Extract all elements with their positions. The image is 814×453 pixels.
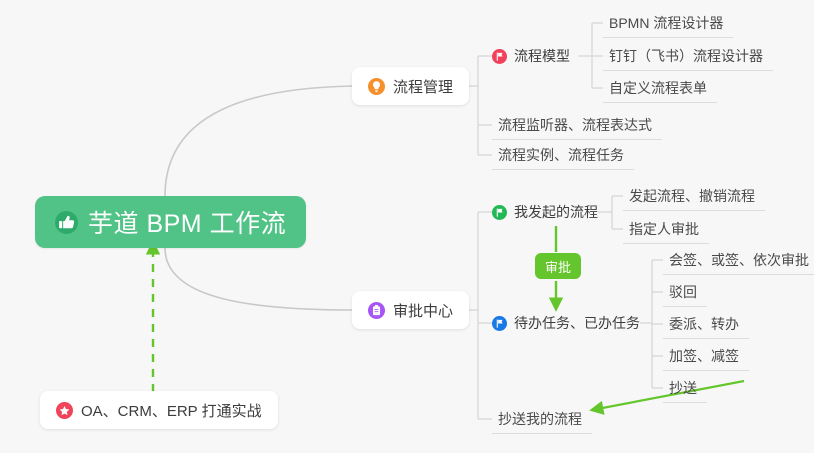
branch-label-process-model: 流程模型 <box>514 46 570 66</box>
integration-card-label: OA、CRM、ERP 打通实战 <box>81 400 262 421</box>
leaf-node-cc[interactable]: 抄送 <box>663 373 707 403</box>
connector-root-to-process-management <box>165 86 352 196</box>
flag-icon <box>492 49 507 64</box>
leaf-node-delegate-transfer[interactable]: 委派、转办 <box>663 309 749 339</box>
leaf-node-add-remove-sign[interactable]: 加签、减签 <box>663 341 749 371</box>
mindmap-canvas: 芋道 BPM 工作流 流程管理 流程模型 BPMN 流程设计器 钉钉（飞书）流程… <box>0 0 814 453</box>
root-node[interactable]: 芋道 BPM 工作流 <box>35 196 306 248</box>
branch-node-todo-done-tasks[interactable]: 待办任务、已办任务 <box>492 309 646 337</box>
leaf-label: 流程实例、流程任务 <box>498 145 624 165</box>
leaf-label: 流程监听器、流程表达式 <box>498 115 652 135</box>
leaf-node-countersign[interactable]: 会签、或签、依次审批 <box>663 245 814 275</box>
flag-icon <box>492 205 507 220</box>
leaf-node-custom-form[interactable]: 自定义流程表单 <box>603 73 717 103</box>
leaf-node-reject[interactable]: 驳回 <box>663 277 707 307</box>
leaf-label: 会签、或签、依次审批 <box>669 250 809 270</box>
leaf-label: 驳回 <box>669 282 697 302</box>
flag-icon <box>492 316 507 331</box>
branch-node-process-model[interactable]: 流程模型 <box>492 42 576 70</box>
branch-node-my-started-process[interactable]: 我发起的流程 <box>492 198 604 226</box>
leaf-node-start-cancel-process[interactable]: 发起流程、撤销流程 <box>623 181 765 211</box>
integration-card[interactable]: OA、CRM、ERP 打通实战 <box>40 391 278 429</box>
leaf-label: BPMN 流程设计器 <box>609 13 723 33</box>
leaf-label: 抄送我的流程 <box>498 409 582 429</box>
root-label: 芋道 BPM 工作流 <box>88 204 286 240</box>
leaf-node-dingtalk-designer[interactable]: 钉钉（飞书）流程设计器 <box>603 41 773 71</box>
leaf-node-bpmn-designer[interactable]: BPMN 流程设计器 <box>603 8 733 38</box>
leaf-node-cc-my-process[interactable]: 抄送我的流程 <box>492 404 592 434</box>
lightbulb-icon <box>368 78 385 95</box>
leaf-node-process-instance[interactable]: 流程实例、流程任务 <box>492 140 634 170</box>
branch-node-process-management[interactable]: 流程管理 <box>352 67 469 105</box>
leaf-label: 指定人审批 <box>629 219 699 239</box>
leaf-label: 发起流程、撤销流程 <box>629 186 755 206</box>
approval-badge: 审批 <box>535 253 581 279</box>
branch-node-approval-center[interactable]: 审批中心 <box>352 291 469 329</box>
approval-badge-label: 审批 <box>545 257 571 276</box>
clipboard-icon <box>368 302 385 319</box>
branch-label-approval-center: 审批中心 <box>393 300 453 321</box>
leaf-node-assigned-approver[interactable]: 指定人审批 <box>623 214 709 244</box>
thumbs-up-icon <box>55 211 78 234</box>
branch-label-my-started-process: 我发起的流程 <box>514 202 598 222</box>
leaf-label: 自定义流程表单 <box>609 78 707 98</box>
leaf-label: 抄送 <box>669 378 697 398</box>
leaf-label: 委派、转办 <box>669 314 739 334</box>
connector-root-to-approval-center <box>165 248 352 310</box>
leaf-label: 加签、减签 <box>669 346 739 366</box>
branch-label-process-management: 流程管理 <box>393 76 453 97</box>
leaf-label: 钉钉（飞书）流程设计器 <box>609 46 763 66</box>
branch-label-todo-done-tasks: 待办任务、已办任务 <box>514 313 640 333</box>
star-icon <box>56 402 73 419</box>
leaf-node-process-listener[interactable]: 流程监听器、流程表达式 <box>492 110 662 140</box>
